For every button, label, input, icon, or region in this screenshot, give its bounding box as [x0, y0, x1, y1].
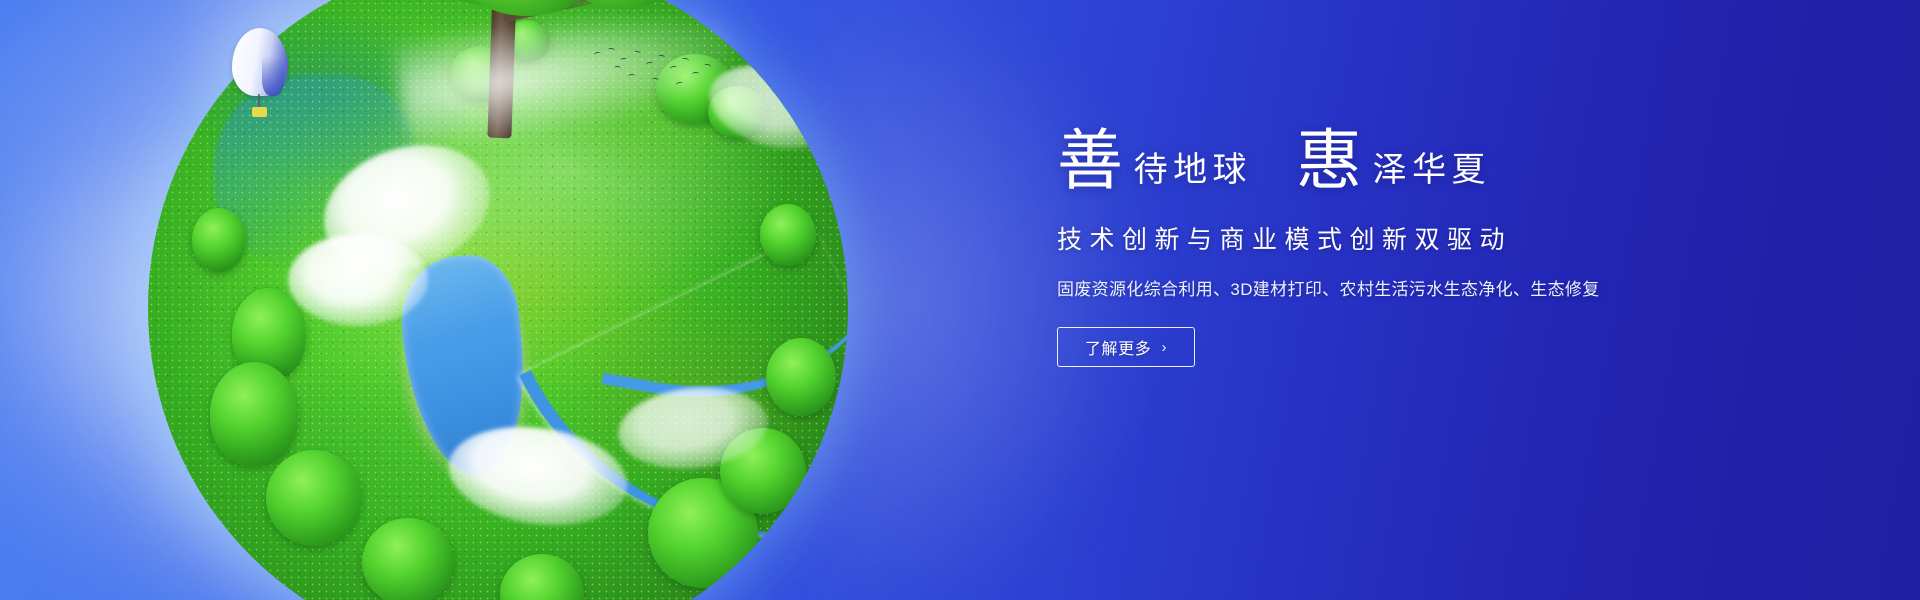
tree-canopy: [192, 208, 246, 272]
description: 固废资源化综合利用、3D建材打印、农村生活污水生态净化、生态修复: [1057, 275, 1817, 300]
tree-canopy: [760, 204, 816, 266]
hot-air-balloon-icon: [232, 28, 288, 120]
headline-char-2: 惠: [1296, 128, 1363, 194]
balloon-rope: [258, 94, 260, 108]
balloon-stripe: [262, 56, 284, 96]
learn-more-button[interactable]: 了解更多 ›: [1057, 327, 1195, 367]
hero-banner: 善 待地球 惠 泽华夏 技术创新与商业模式创新双驱动 固废资源化综合利用、3D建…: [0, 0, 1920, 600]
tree-canopy: [362, 518, 454, 600]
balloon-basket: [252, 107, 267, 117]
tree-canopy: [266, 450, 362, 546]
subtitle: 技术创新与商业模式创新双驱动: [1057, 220, 1817, 256]
chevron-right-icon: ›: [1161, 340, 1167, 355]
headline-rest-1: 待地球: [1124, 153, 1252, 194]
page-title: 善 待地球 惠 泽华夏: [1057, 128, 1817, 194]
headline-rest-2: 泽华夏: [1363, 153, 1491, 194]
hero-copy: 善 待地球 惠 泽华夏 技术创新与商业模式创新双驱动 固废资源化综合利用、3D建…: [1057, 128, 1817, 367]
learn-more-label: 了解更多: [1085, 335, 1152, 359]
tree-canopy: [210, 362, 298, 466]
headline-char-1: 善: [1057, 128, 1124, 194]
cloud-icon: [288, 234, 428, 326]
tree-canopy: [766, 338, 836, 416]
birds-flock-icon: [592, 46, 722, 92]
